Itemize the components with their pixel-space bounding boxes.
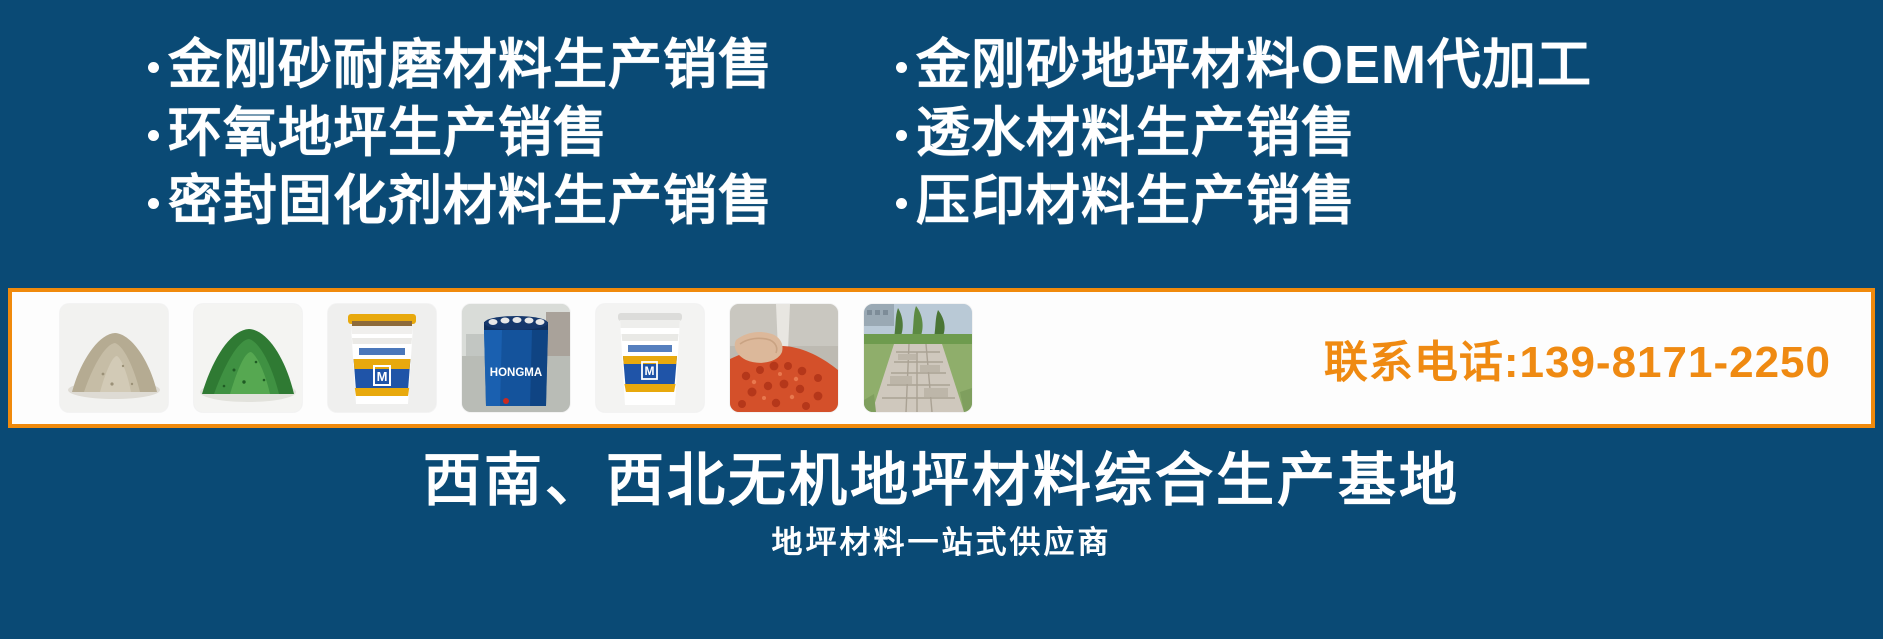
green-emery-powder-heap-thumbnail [194,304,302,412]
stamped-concrete-walkway-thumbnail [864,304,972,412]
feature-item: 金刚砂耐磨材料生产销售 [148,34,880,96]
gray-emery-powder-heap-thumbnail [60,304,168,412]
feature-label: 密封固化剂材料生产销售 [168,170,773,232]
feature-item: 环氧地坪生产销售 [148,102,880,164]
bullet-dot-icon [896,130,907,141]
bullet-dot-icon [148,130,159,141]
feature-label: 金刚砂耐磨材料生产销售 [168,34,773,96]
feature-label: 金刚砂地坪材料OEM代加工 [916,34,1592,96]
contact-phone-text[interactable]: 联系电话:139-8171-2250 [1324,326,1831,390]
white-yellow-paint-bucket-thumbnail: M [328,304,436,412]
svg-text:HONGMA: HONGMA [490,367,542,379]
blue-steel-drum-thumbnail: HONGMA [462,304,570,412]
contact-phone[interactable]: 联系电话:139-8171-2250 [1324,326,1871,390]
feature-item: 密封固化剂材料生产销售 [148,170,880,232]
white-blue-paint-bucket-thumbnail: M [596,304,704,412]
feature-label: 环氧地坪生产销售 [168,102,608,164]
bullet-dot-icon [148,62,159,73]
svg-text:M: M [645,364,655,378]
bullet-dot-icon [896,198,907,209]
feature-column-left: 金刚砂耐磨材料生产销售 环氧地坪生产销售 密封固化剂材料生产销售 [0,34,880,288]
feature-column-right: 金刚砂地坪材料OEM代加工 透水材料生产销售 压印材料生产销售 [880,34,1883,288]
feature-item: 透水材料生产销售 [896,102,1883,164]
svg-text:M: M [377,369,388,384]
footer-area: 西南、西北无机地坪材料综合生产基地 地坪材料一站式供应商 [0,428,1883,639]
feature-label: 压印材料生产销售 [916,170,1356,232]
headline: 西南、西北无机地坪材料综合生产基地 [423,448,1460,514]
product-strip: M [8,288,1875,428]
product-thumbnail-list: M [12,304,972,412]
red-permeable-pavement-hand-thumbnail [730,304,838,412]
feature-label: 透水材料生产销售 [916,102,1356,164]
advertising-banner: 金刚砂耐磨材料生产销售 环氧地坪生产销售 密封固化剂材料生产销售 金刚砂地坪材料… [0,0,1883,639]
feature-item: 压印材料生产销售 [896,170,1883,232]
feature-item: 金刚砂地坪材料OEM代加工 [896,34,1883,96]
bullet-dot-icon [896,62,907,73]
bullet-dot-icon [148,198,159,209]
subtitle: 地坪材料一站式供应商 [772,524,1112,562]
feature-list-area: 金刚砂耐磨材料生产销售 环氧地坪生产销售 密封固化剂材料生产销售 金刚砂地坪材料… [0,0,1883,288]
